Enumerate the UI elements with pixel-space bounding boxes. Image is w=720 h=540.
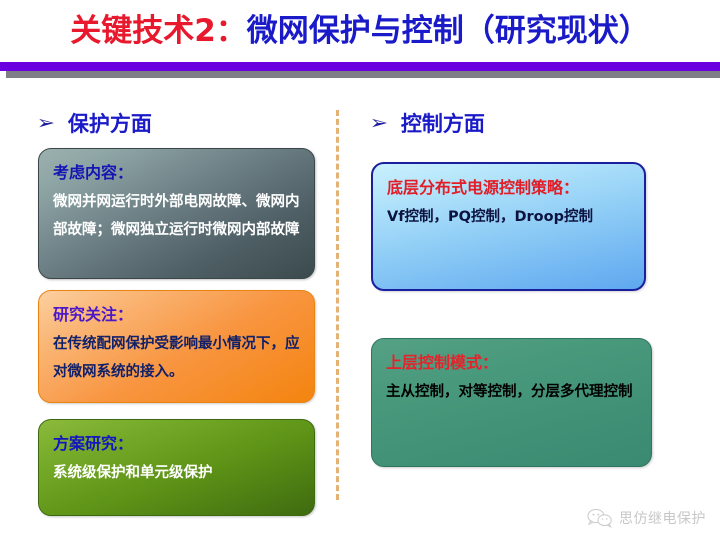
card-title: 底层分布式电源控制策略： [387,175,630,201]
card-protection-research-focus: 研究关注： 在传统配网保护受影响最小情况下，应对微网系统的接入。 [38,290,315,403]
page-title-rest: 微网保护与控制（研究现状） [247,13,650,49]
section-header-protection: ➢ 保护方面 [38,108,152,138]
section-header-control-label: 控制方面 [401,108,485,138]
wechat-icon [587,508,613,528]
section-header-control: ➢ 控制方面 [371,108,485,138]
card-body: 主从控制，对等控制，分层多代理控制 [386,378,637,406]
watermark-text: 思仿继电保护 [619,508,706,528]
card-title: 考虑内容： [53,160,300,186]
card-title: 上层控制模式： [386,350,637,376]
arrow-bullet-icon: ➢ [37,114,55,133]
card-protection-considerations: 考虑内容： 微网并网运行时外部电网故障、微网内部故障；微网独立运行时微网内部故障 [38,148,315,279]
page-title: 关键技术2：微网保护与控制（研究现状） [0,10,720,52]
card-title: 研究关注： [53,302,300,328]
card-body: Vf控制，PQ控制，Droop控制 [387,203,630,231]
title-accent-bar [0,62,720,71]
column-divider [336,110,339,500]
watermark: 思仿继电保护 [587,508,706,528]
card-protection-scheme-research: 方案研究： 系统级保护和单元级保护 [38,419,315,516]
page-title-highlight: 关键技术2： [70,13,247,49]
card-body: 微网并网运行时外部电网故障、微网内部故障；微网独立运行时微网内部故障 [53,188,300,244]
slide-canvas: 关键技术2：微网保护与控制（研究现状） ➢ 保护方面 ➢ 控制方面 考虑内容： … [0,0,720,540]
card-control-upper-layer-mode: 上层控制模式： 主从控制，对等控制，分层多代理控制 [371,338,652,467]
card-body: 在传统配网保护受影响最小情况下，应对微网系统的接入。 [53,330,300,386]
card-body: 系统级保护和单元级保护 [53,459,300,487]
card-title: 方案研究： [53,431,300,457]
arrow-bullet-icon: ➢ [370,114,388,133]
title-accent-bar-shadow [6,71,720,78]
section-header-protection-label: 保护方面 [68,108,152,138]
card-control-lower-layer-strategy: 底层分布式电源控制策略： Vf控制，PQ控制，Droop控制 [371,162,646,291]
